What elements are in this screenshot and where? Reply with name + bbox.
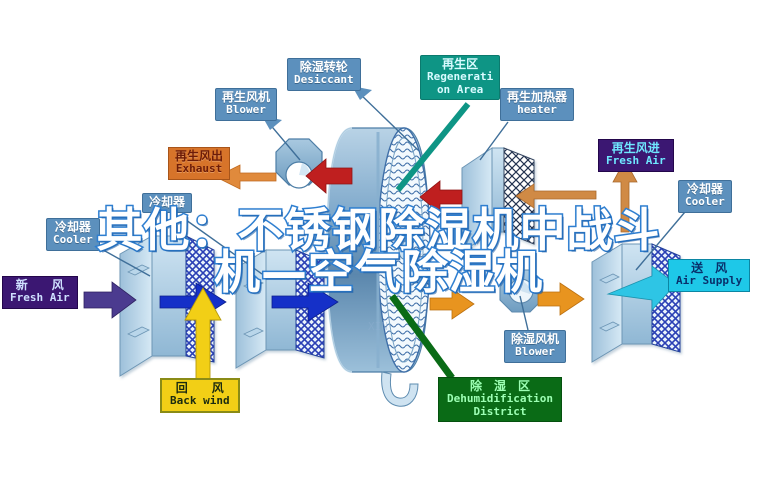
- label-en: Exhaust: [175, 163, 223, 175]
- label-en: Dehumidification: [447, 393, 553, 405]
- label-en: Desiccant: [294, 74, 354, 86]
- arrow-regen-intake: [516, 184, 596, 208]
- label-cn: 冷却器: [149, 196, 185, 209]
- label-en: Fresh Air: [606, 155, 666, 167]
- label-cn: 冷却器: [685, 183, 725, 196]
- label-cn: 再生加热器: [507, 91, 567, 104]
- diagram-canvas: XIN 除湿转轮 Desiccant 再生风机 Blower 再生区 Regen…: [0, 0, 757, 488]
- cooler-coil-right: [592, 244, 680, 362]
- label-cn: 再生风出: [175, 150, 223, 163]
- label-cn: 再生风机: [222, 91, 270, 104]
- label-regeneration-blower: 再生风机 Blower: [215, 88, 277, 121]
- label-cn: 除 湿 区: [447, 380, 553, 393]
- label-en: Regenerati: [427, 71, 493, 83]
- label-cn: 除湿风机: [511, 333, 559, 346]
- dehumidification-blower: [500, 270, 542, 312]
- label-cooler-right: 冷却器 Cooler: [678, 180, 732, 213]
- label-en: heater: [507, 104, 567, 116]
- label-cn: 新 风: [10, 279, 70, 292]
- label-fresh-air-inlet: 新 风 Fresh Air: [2, 276, 78, 309]
- label-cn: 除湿转轮: [294, 61, 354, 74]
- label-cooler-left-1: 冷却器 Cooler: [46, 218, 100, 251]
- label-cn: 冷却器: [53, 221, 93, 234]
- label-dehumidification-district: 除 湿 区 Dehumidification District: [438, 377, 562, 422]
- watermark-text: XIN: [368, 320, 388, 333]
- label-en: Back wind: [170, 395, 230, 407]
- label-en: Blower: [222, 104, 270, 116]
- label-en: Fresh Air: [10, 292, 70, 304]
- label-en-2: on Area: [427, 84, 493, 96]
- label-back-wind: 回 风 Back wind: [160, 378, 240, 413]
- label-dehumidification-blower: 除湿风机 Blower: [504, 330, 566, 363]
- label-regeneration-heater: 再生加热器 heater: [500, 88, 574, 121]
- label-desiccant-rotor: 除湿转轮 Desiccant: [287, 58, 361, 91]
- label-cn: 再生区: [427, 58, 493, 71]
- label-cn: 回 风: [170, 382, 230, 395]
- label-cn: 送 风: [676, 262, 742, 275]
- label-en: Cooler: [685, 196, 725, 208]
- label-en: Air Supply: [676, 275, 742, 287]
- arrow-dry-air-1: [430, 289, 474, 319]
- label-regeneration-area: 再生区 Regenerati on Area: [420, 55, 500, 100]
- dehumidifier-schematic: XIN: [0, 0, 757, 488]
- label-cn: 再生风进: [606, 142, 666, 155]
- label-en-2: District: [447, 406, 553, 418]
- arrow-dry-air-2: [538, 283, 584, 315]
- label-regeneration-exhaust: 再生风出 Exhaust: [168, 147, 230, 180]
- label-en: Cooler: [53, 234, 93, 246]
- label-cooler-left-2: 冷却器: [142, 193, 192, 213]
- label-air-supply: 送 风 Air Supply: [668, 259, 750, 292]
- label-en: Blower: [511, 346, 559, 358]
- label-regeneration-fresh-air: 再生风进 Fresh Air: [598, 139, 674, 172]
